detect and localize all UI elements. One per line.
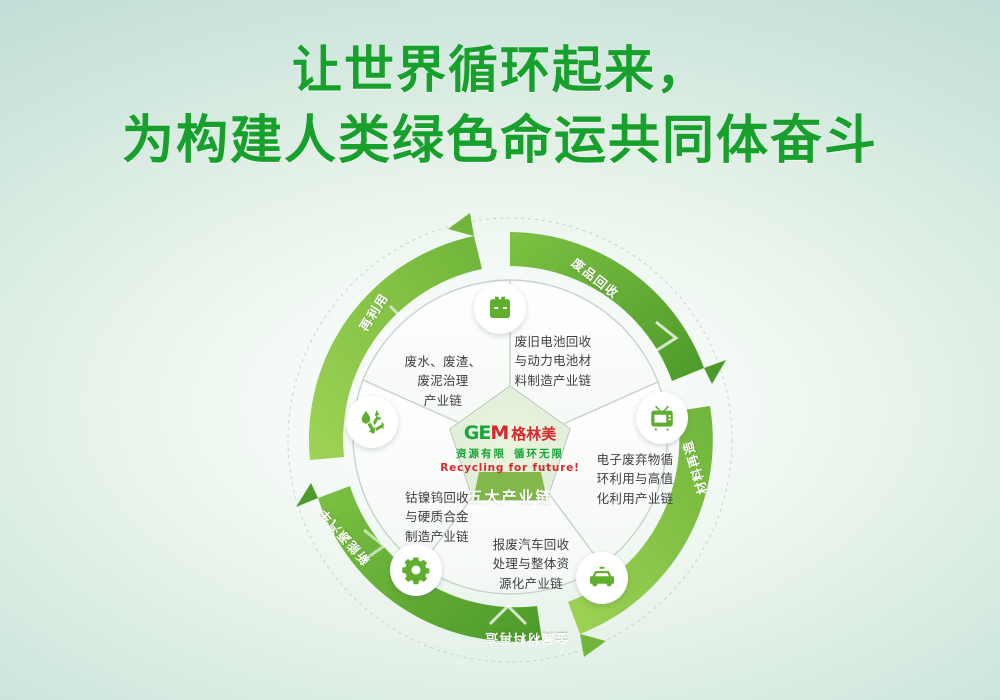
segment-icon-electronic-waste[interactable] [636,392,688,444]
ring-label-metal-material-remake: 金属材料再造 [484,630,568,649]
television-icon [647,403,677,433]
water-recycle-icon [357,407,387,437]
center-logo: GEM 格林美 资源有限循环无限 Recycling for future! 五… [435,422,585,507]
logo-slogan-en: Recycling for future! [435,462,585,474]
page-title: 让世界循环起来， 为构建人类绿色命运共同体奋斗 [0,38,1000,175]
industry-chain-diagram: 废旧电池回收 与动力电池材 料制造产业链 电子废弃物循 环利用与高值 化利用产业… [280,210,740,670]
segment-icon-battery[interactable] [474,282,526,334]
segment-icon-cobalt[interactable] [390,544,442,596]
logo-wordmark: GEM 格林美 [435,422,585,444]
battery-icon [485,293,515,323]
gear-icon [401,555,431,585]
center-subtitle: 五大产业链 [435,486,585,507]
segment-label-electronic-waste: 电子废弃物循 环利用与高值 化利用产业链 [580,450,690,508]
brand-cn: 格林美 [511,423,556,444]
logo-slogan-1: 资源有限 [456,448,506,460]
segment-label-end-of-life-vehicle: 报废汽车回收 处理与整体资 源化产业链 [476,535,586,593]
title-line-2: 为构建人类绿色命运共同体奋斗 [0,108,1000,175]
title-line-1: 让世界循环起来， [0,38,1000,102]
brand-latin: GEM [464,422,509,444]
car-icon [587,563,617,593]
logo-slogan-2: 循环无限 [514,448,564,460]
logo-slogan: 资源有限循环无限 [435,446,585,461]
segment-label-battery: 废旧电池回收 与动力电池材 料制造产业链 [498,332,608,390]
segment-label-wastewater: 废水、废渣、 废泥治理 产业链 [388,352,498,410]
